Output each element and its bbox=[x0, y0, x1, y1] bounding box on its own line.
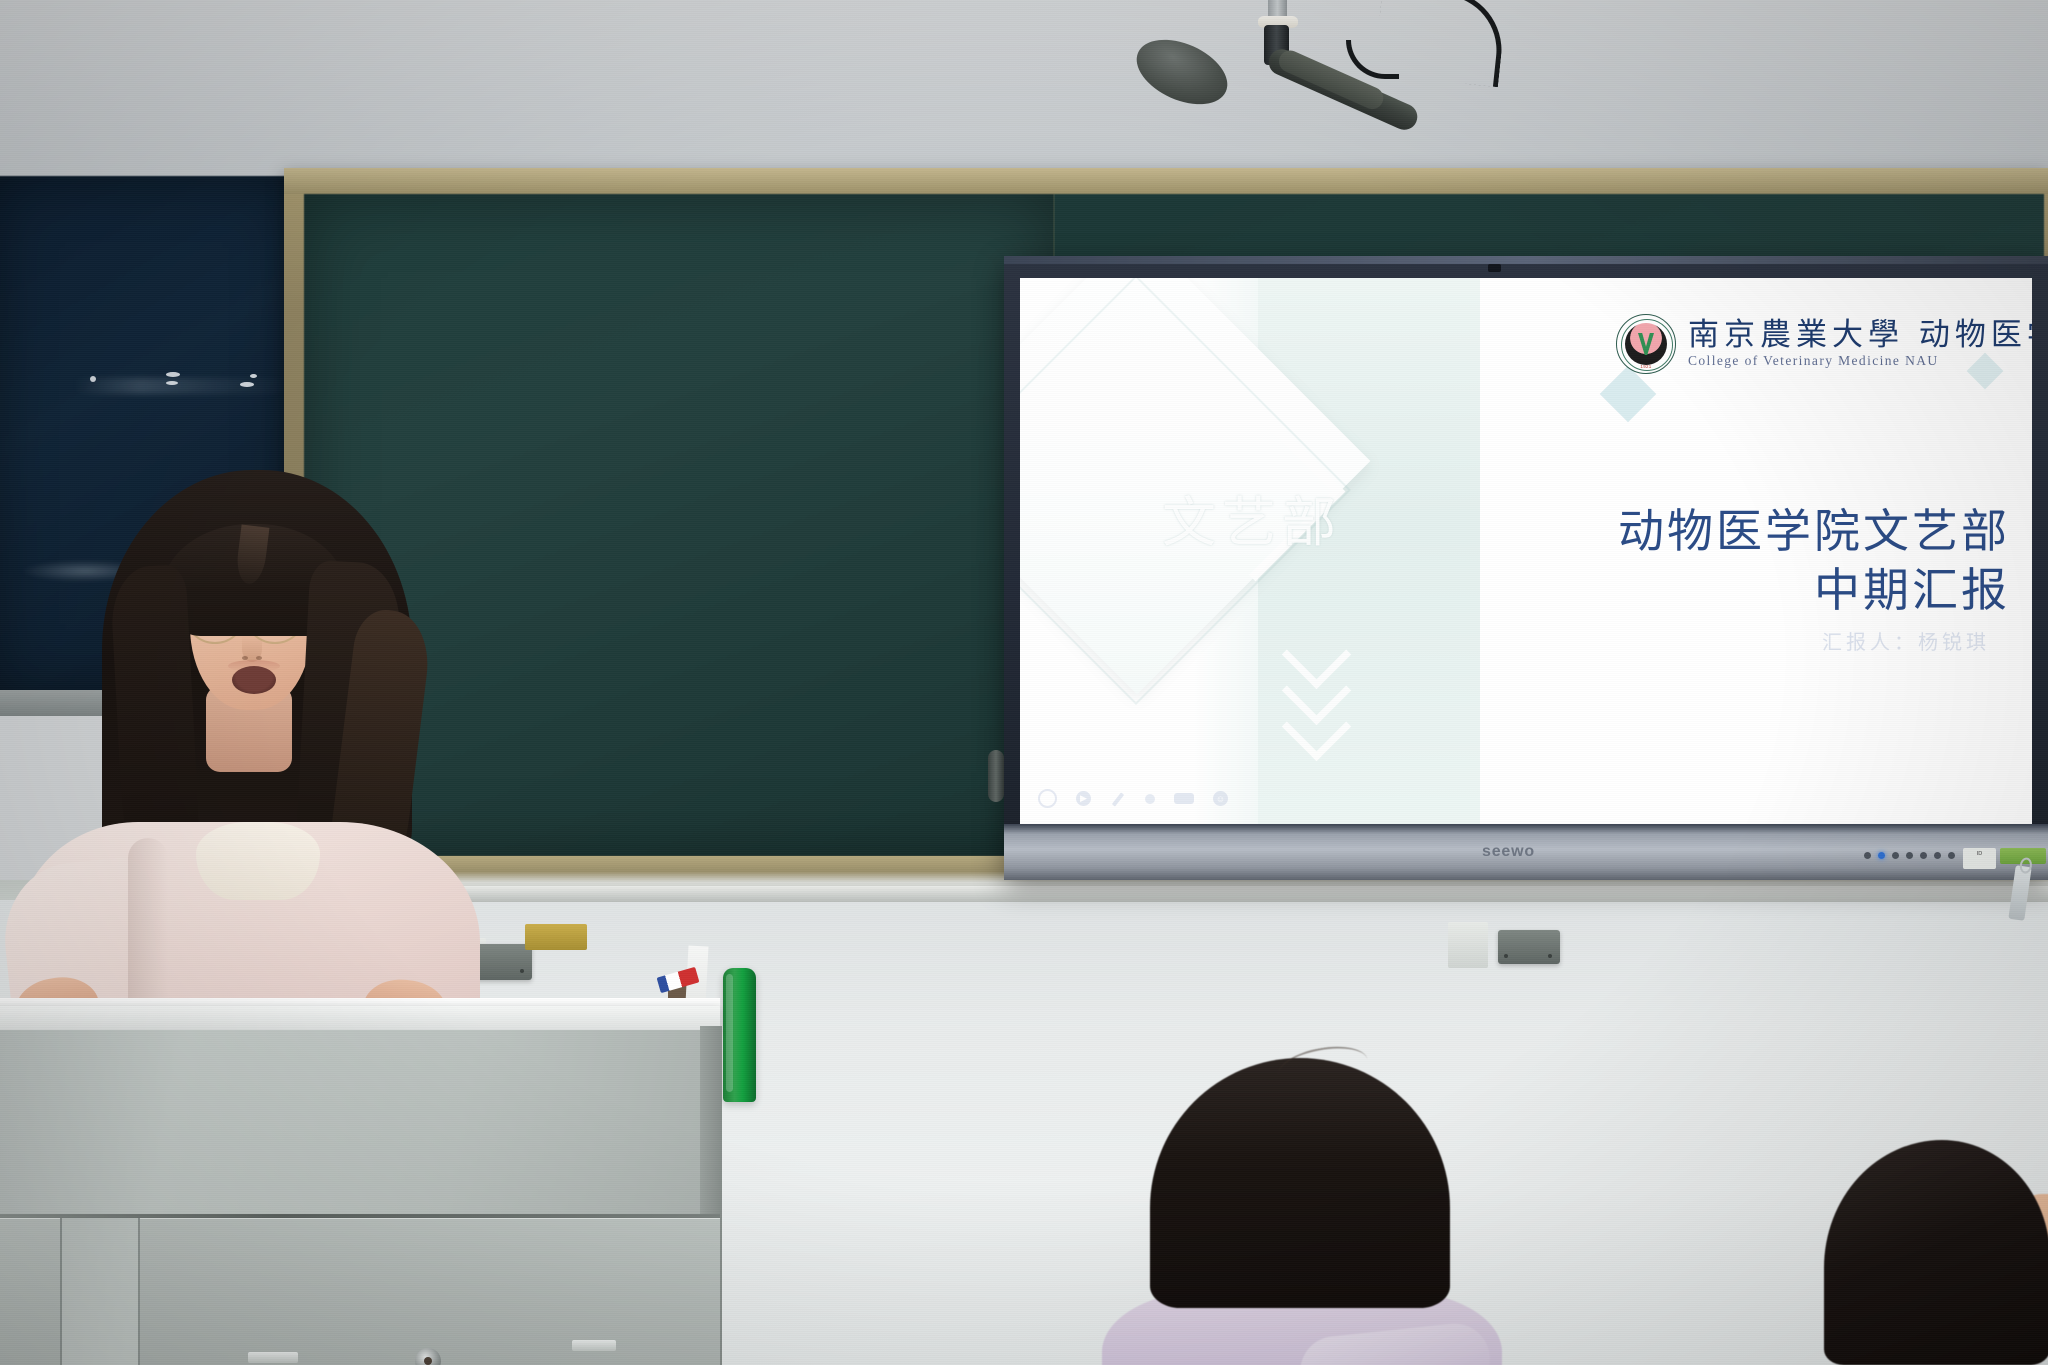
power-button[interactable] bbox=[1864, 852, 1871, 859]
slide-title: 动物医学院文艺部 中期汇报 bbox=[1450, 502, 2010, 620]
input-button[interactable] bbox=[1892, 852, 1899, 859]
slide-diamond-accent bbox=[1600, 366, 1657, 423]
circle-outline-icon[interactable] bbox=[1038, 789, 1057, 808]
student-front-right bbox=[1824, 1140, 2048, 1365]
seal-year: 1921 bbox=[1617, 364, 1675, 369]
drawer-handle-right[interactable] bbox=[572, 1340, 616, 1351]
wall-bracket-right-plate bbox=[1448, 922, 1488, 968]
display-id-sticker: ID bbox=[1963, 848, 1996, 869]
classroom-photo-scene: 文艺部 1921 南京農業大學 动物医学院 College of Veterin… bbox=[0, 0, 2048, 1365]
camera-icon bbox=[1488, 264, 1501, 272]
podium-panel-divider bbox=[138, 1218, 140, 1365]
eraser-icon[interactable] bbox=[1174, 793, 1194, 804]
display-bezel-highlight bbox=[1004, 256, 2048, 264]
wall-yellow-marker bbox=[525, 924, 587, 950]
slide-title-line2: 中期汇报 bbox=[1450, 561, 2010, 620]
green-bottle[interactable] bbox=[723, 968, 756, 1102]
screen-toolbar[interactable]: ▶ ☺ bbox=[1038, 789, 1228, 808]
play-circle-icon[interactable]: ▶ bbox=[1076, 791, 1091, 806]
logo-chinese-text: 南京農業大學 动物医学院 bbox=[1688, 319, 2032, 352]
university-seal-icon: 1921 bbox=[1616, 314, 1676, 374]
display-brand-label: seewo bbox=[1482, 843, 1535, 861]
blackboard-slide-handle[interactable] bbox=[988, 750, 1004, 802]
blackboard-frame-top bbox=[284, 168, 2048, 194]
drawer-handle-left[interactable] bbox=[248, 1352, 298, 1363]
podium-drawer-large[interactable] bbox=[140, 1218, 720, 1365]
podium-panel-divider bbox=[60, 1218, 62, 1365]
volume-down-button[interactable] bbox=[1906, 852, 1913, 859]
slide-title-line1: 动物医学院文艺部 bbox=[1450, 502, 2010, 561]
slide-presenter: 汇报人：杨锐琪 bbox=[1450, 626, 1990, 655]
university-logo: 1921 南京農業大學 动物医学院 College of Veterinary … bbox=[1616, 314, 2032, 374]
ceiling-microphone bbox=[1150, 0, 1410, 124]
student-front-center bbox=[1150, 1058, 1450, 1365]
slide-watermark: 文艺部 bbox=[1162, 478, 1342, 557]
emoji-icon[interactable]: ☺ bbox=[1213, 791, 1228, 806]
speaker-figure bbox=[10, 470, 490, 1040]
volume-up-button[interactable] bbox=[1920, 852, 1927, 859]
podium-top-surface[interactable] bbox=[0, 1006, 720, 1032]
chalk-marks bbox=[80, 368, 290, 408]
back-button[interactable] bbox=[1948, 852, 1955, 859]
speaker-mouth-open bbox=[232, 666, 276, 694]
presentation-screen[interactable]: 文艺部 1921 南京農業大學 动物医学院 College of Veterin… bbox=[1020, 278, 2032, 824]
podium-drawer-small[interactable] bbox=[0, 1218, 60, 1365]
logo-english-text: College of Veterinary Medicine NAU bbox=[1688, 353, 2032, 369]
student-right-hair bbox=[1824, 1140, 2048, 1365]
student-center-hair bbox=[1150, 1058, 1450, 1308]
dot-icon[interactable] bbox=[1145, 794, 1155, 804]
menu-button[interactable] bbox=[1878, 852, 1885, 859]
home-button[interactable] bbox=[1934, 852, 1941, 859]
microphone-cable-bend bbox=[1346, 40, 1399, 79]
pen-icon[interactable] bbox=[1110, 791, 1126, 807]
blackboard-rail-lip bbox=[284, 886, 2048, 902]
display-control-buttons[interactable] bbox=[1864, 852, 1955, 859]
wall-bracket-right bbox=[1498, 930, 1560, 964]
speaker-inner-top bbox=[196, 822, 320, 900]
